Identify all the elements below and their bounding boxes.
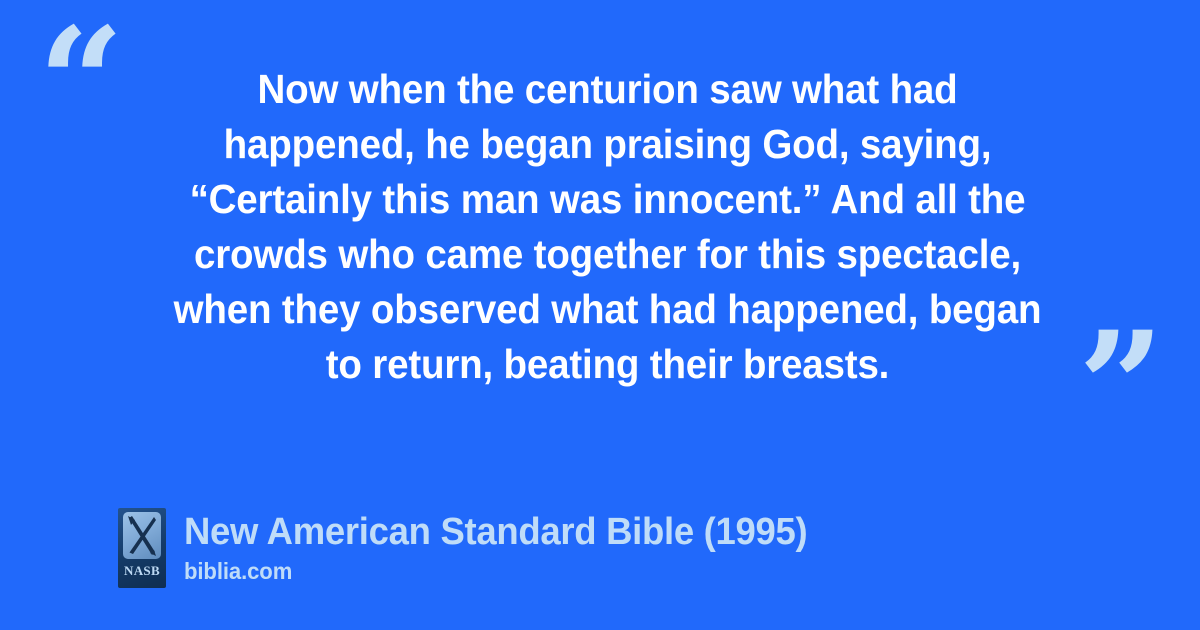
quote-text: Now when the centurion saw what had happ…	[159, 62, 1057, 392]
quote-card: “ Now when the centurion saw what had ha…	[0, 0, 1200, 630]
nasb-logo-icon: NASB	[118, 508, 166, 588]
close-quote-icon: ”	[1078, 312, 1162, 462]
logo-wordmark: NASB	[124, 564, 160, 577]
source-website: biblia.com	[184, 556, 807, 586]
attribution: NASB New American Standard Bible (1995) …	[118, 508, 833, 588]
open-quote-icon: “	[38, 8, 122, 158]
attribution-text: New American Standard Bible (1995) bibli…	[184, 510, 833, 586]
bible-version-title: New American Standard Bible (1995)	[184, 510, 807, 554]
logo-badge	[123, 512, 161, 559]
